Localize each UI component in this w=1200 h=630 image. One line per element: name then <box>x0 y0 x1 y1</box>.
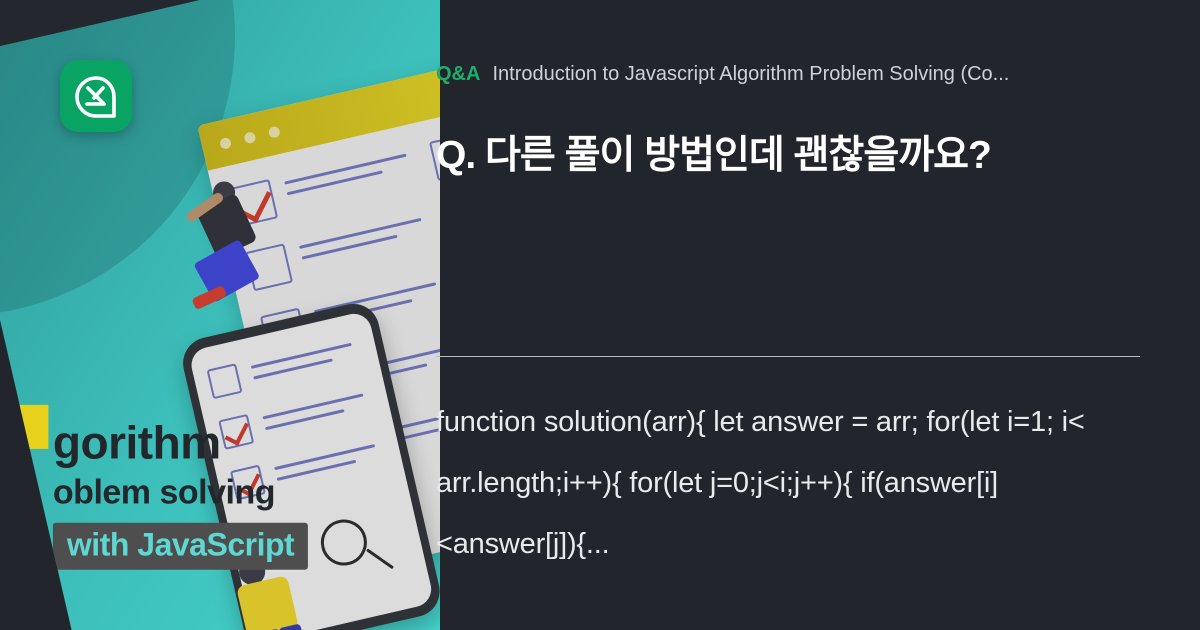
checklist-lines <box>298 210 435 260</box>
question-body-snippet: function solution(arr){ let answer = arr… <box>436 392 1136 575</box>
browser-dot-icon <box>219 136 232 149</box>
thumbnail-course-title: gorithm oblem solving with JavaScript <box>53 416 308 570</box>
thumbnail-title-line2: oblem solving <box>53 474 308 513</box>
question-title: Q. 다른 풀이 방법인데 괜찮을까요? <box>436 124 1150 180</box>
checklist-row <box>207 335 366 399</box>
browser-dot-icon <box>268 125 281 138</box>
checklist-lines <box>249 335 363 380</box>
inflearn-leaf-logo-icon <box>74 74 118 118</box>
thumbnail-title-line1: gorithm <box>53 416 308 470</box>
browser-dot-icon <box>243 131 256 144</box>
brand-logo[interactable] <box>60 60 132 132</box>
checkbox-empty-icon <box>207 363 243 399</box>
content-panel: Q&A Introduction to Javascript Algorithm… <box>436 0 1200 630</box>
qna-badge: Q&A <box>436 63 480 86</box>
thumbnail-title-line3: with JavaScript <box>53 523 308 570</box>
share-card: 2021P t++ <box>0 0 1200 630</box>
course-title-label[interactable]: Introduction to Javascript Algorithm Pro… <box>492 63 1009 86</box>
breadcrumb: Q&A Introduction to Javascript Algorithm… <box>436 63 1148 86</box>
checklist-lines <box>283 145 420 195</box>
thumbnail-accent-tab <box>0 405 48 449</box>
divider <box>436 356 1140 357</box>
